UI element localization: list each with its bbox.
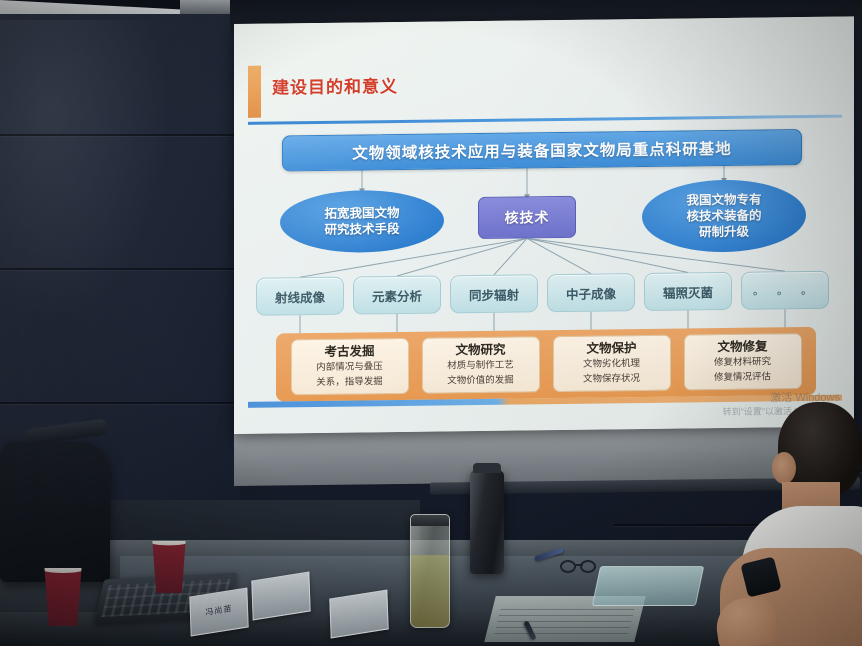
card-line1: 内部情况与叠压 <box>316 361 383 374</box>
name-placard-text: 冯尚苗 <box>191 601 247 621</box>
card-title: 考古发掘 <box>324 344 374 360</box>
tea-tumbler <box>410 514 450 628</box>
wall-seam <box>0 268 236 270</box>
name-placard-text <box>331 603 387 612</box>
thermos-bottle <box>470 470 504 574</box>
slide-title: 建设目的和意义 <box>272 72 398 99</box>
card-title: 文物保护 <box>586 341 636 357</box>
card-relic-restoration: 文物修复 修复材料研究 修复情况评估 <box>684 333 802 390</box>
powerpoint-slide: 建设目的和意义 <box>234 16 854 434</box>
card-title: 文物修复 <box>717 340 767 356</box>
eyeglasses-bridge <box>575 564 583 566</box>
eyeglasses-lens <box>560 560 576 573</box>
application-band: 考古发掘 内部情况与叠压 关系，指导发掘 文物研究 材质与制作工艺 文物价值的发… <box>276 327 816 402</box>
node-goal-left: 拓宽我国文物 研究技术手段 <box>280 189 444 253</box>
card-line2: 文物价值的发掘 <box>447 374 514 387</box>
paper-cup <box>150 541 188 593</box>
conference-room-photo: 建设目的和意义 <box>0 0 862 646</box>
title-underline <box>248 115 842 125</box>
chip-element-analysis: 元素分析 <box>353 275 441 314</box>
wall-seam <box>0 402 236 404</box>
tablet-device <box>592 566 705 606</box>
paper-cup <box>42 568 84 626</box>
eyeglasses <box>560 560 604 574</box>
chip-xray-imaging: 射线成像 <box>256 277 344 316</box>
eyeglasses-lens <box>580 560 596 573</box>
node-core-technology: 核技术 <box>478 196 576 239</box>
tea-liquid <box>411 555 449 627</box>
chip-synchrotron-radiation: 同步辐射 <box>450 274 538 313</box>
chip-ellipsis: 。 。 。 <box>741 271 829 310</box>
card-line1: 文物劣化机理 <box>583 358 640 371</box>
node-goal-left-line1: 拓宽我国文物 <box>324 205 399 222</box>
node-goal-right-line1: 我国文物专有 <box>686 192 761 209</box>
card-relic-research: 文物研究 材质与制作工艺 文物价值的发掘 <box>422 336 540 393</box>
screen-projection-area: 建设目的和意义 <box>234 16 854 434</box>
card-archaeological-excavation: 考古发掘 内部情况与叠压 关系，指导发掘 <box>291 338 409 395</box>
card-title: 文物研究 <box>455 343 505 359</box>
slide-banner-node: 文物领域核技术应用与装备国家文物局重点科研基地 <box>282 129 802 171</box>
title-accent-bar <box>248 66 261 118</box>
wall-light-glow <box>0 20 170 320</box>
wall-seam <box>0 134 236 136</box>
person-ear <box>772 452 796 484</box>
card-line2: 文物保存状况 <box>583 373 640 386</box>
card-line1: 材质与制作工艺 <box>447 360 514 373</box>
node-goal-left-line2: 研究技术手段 <box>324 221 399 238</box>
name-placard-text <box>253 585 309 594</box>
projection-screen: 建设目的和意义 <box>216 0 862 500</box>
card-line1: 修复材料研究 <box>714 357 771 370</box>
card-line2: 关系，指导发掘 <box>316 376 383 389</box>
node-goal-right: 我国文物专有 核技术装备的 研制升级 <box>642 179 806 253</box>
node-goal-right-line3: 研制升级 <box>699 224 749 241</box>
chip-neutron-imaging: 中子成像 <box>547 273 635 312</box>
card-line2: 修复情况评估 <box>714 371 771 384</box>
technology-chip-row: 射线成像 元素分析 同步辐射 中子成像 辐照灭菌 。 。 。 <box>256 271 836 316</box>
office-chair <box>0 442 110 582</box>
card-relic-protection: 文物保护 文物劣化机理 文物保存状况 <box>553 335 671 392</box>
tumbler-lid <box>411 515 449 526</box>
chip-irradiation-sterilization: 辐照灭菌 <box>644 272 732 311</box>
node-goal-right-line2: 核技术装备的 <box>686 208 761 225</box>
